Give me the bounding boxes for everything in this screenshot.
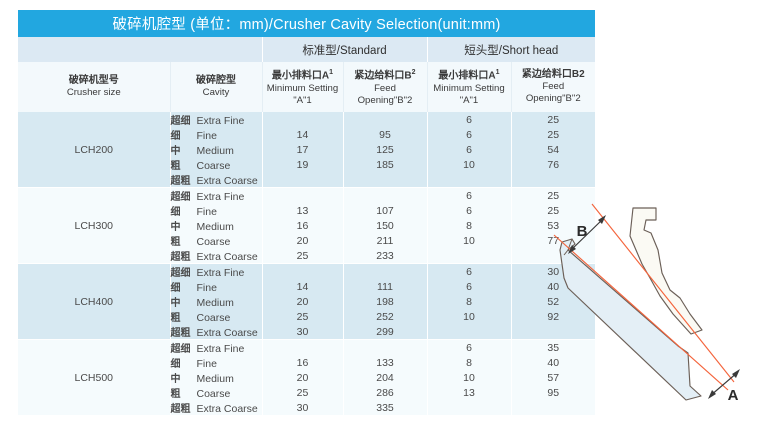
cell-standard-min-setting (262, 188, 343, 204)
cell-shorthead-min-setting: 6 (427, 142, 511, 157)
cell-cavity: 中Medium (170, 142, 262, 157)
cell-standard-feed-opening: 111 (343, 279, 427, 294)
cell-crusher-size (18, 340, 170, 356)
cell-cavity-cn: 超粗 (171, 248, 197, 263)
cell-shorthead-min-setting: 8 (427, 355, 511, 370)
cell-crusher-size (18, 264, 170, 280)
cell-standard-feed-opening: 335 (343, 400, 427, 415)
cell-shorthead-min-setting: 6 (427, 264, 511, 280)
cell-cavity: 中Medium (170, 294, 262, 309)
cell-standard-min-setting: 14 (262, 279, 343, 294)
cell-cavity-cn: 细 (171, 127, 197, 142)
cell-standard-min-setting: 20 (262, 294, 343, 309)
cell-standard-feed-opening: 133 (343, 355, 427, 370)
column-header-std-min-setting-cn: 最小排料口A1 (263, 67, 343, 82)
cell-cavity-cn: 中 (171, 294, 197, 309)
cell-crusher-size (18, 188, 170, 204)
cell-standard-min-setting: 25 (262, 248, 343, 264)
cell-crusher-size (18, 309, 170, 324)
cell-shorthead-min-setting (427, 172, 511, 188)
cell-cavity-en: Fine (197, 130, 217, 142)
table-row: 细Fine13107625 (18, 203, 595, 218)
crusher-cavity-diagram: B A (538, 138, 766, 434)
table-title-row: 破碎机腔型 (单位：mm)/Crusher Cavity Selection(u… (18, 10, 595, 37)
cell-standard-min-setting: 17 (262, 142, 343, 157)
cell-standard-feed-opening: 204 (343, 370, 427, 385)
column-header-sh-feed-opening: 紧边给料口B2 Feed Opening"B"2 (511, 62, 595, 112)
cavity-table-body: 超细Extra Fine625细Fine1495625LCH200中Medium… (18, 112, 595, 415)
page-root: 破碎机腔型 (单位：mm)/Crusher Cavity Selection(u… (0, 0, 766, 442)
column-header-std-feed-opening-en: Feed (344, 83, 427, 95)
cell-standard-min-setting (262, 172, 343, 188)
cell-standard-feed-opening: 299 (343, 324, 427, 340)
cell-shorthead-min-setting: 10 (427, 157, 511, 172)
table-row: 超粗Extra Coarse (18, 172, 595, 188)
cell-cavity-cn: 超细 (171, 188, 197, 203)
cell-cavity-en: Medium (197, 145, 234, 157)
cell-cavity-en: Extra Coarse (197, 403, 258, 415)
cell-crusher-size (18, 355, 170, 370)
cell-crusher-size (18, 233, 170, 248)
cell-cavity-cn: 超粗 (171, 172, 197, 187)
cell-shorthead-min-setting: 6 (427, 340, 511, 356)
cell-cavity-en: Fine (197, 282, 217, 294)
cell-cavity-en: Extra Fine (197, 191, 245, 203)
cell-cavity: 粗Coarse (170, 385, 262, 400)
column-header-crusher-size: 破碎机型号 Crusher size (18, 62, 170, 112)
cell-cavity-en: Coarse (197, 388, 231, 400)
cell-standard-min-setting: 30 (262, 400, 343, 415)
table-row: 粗Coarse252861395 (18, 385, 595, 400)
cell-standard-feed-opening: 211 (343, 233, 427, 248)
cell-cavity-cn: 超粗 (171, 324, 197, 339)
table-row: 超粗Extra Coarse25233 (18, 248, 595, 264)
column-header-sh-feed-opening-cn: 紧边给料口B2 (512, 69, 596, 81)
cell-crusher-size: LCH200 (18, 142, 170, 157)
dimension-b-label: B (577, 223, 588, 240)
cell-cavity: 粗Coarse (170, 233, 262, 248)
column-header-sh-min-setting-en2: "A"1 (428, 95, 511, 107)
cell-cavity-en: Fine (197, 206, 217, 218)
cell-standard-feed-opening (343, 340, 427, 356)
cell-standard-min-setting: 16 (262, 355, 343, 370)
table-row: 超粗Extra Coarse30299 (18, 324, 595, 340)
cell-shorthead-min-setting: 13 (427, 385, 511, 400)
cell-crusher-size (18, 112, 170, 127)
group-header-row: 标准型/Standard 短头型/Short head (18, 37, 595, 62)
column-header-cavity-cn: 破碎腔型 (171, 75, 262, 87)
table-row: LCH300中Medium16150853 (18, 218, 595, 233)
cell-cavity-cn: 粗 (171, 385, 197, 400)
column-header-sh-min-setting-cn: 最小排料口A1 (428, 67, 511, 82)
cell-crusher-size (18, 203, 170, 218)
cell-cavity-cn: 超细 (171, 340, 197, 355)
cell-standard-min-setting: 20 (262, 370, 343, 385)
cell-cavity-cn: 超细 (171, 112, 197, 127)
table-row: 超粗Extra Coarse30335 (18, 400, 595, 415)
cell-standard-min-setting: 13 (262, 203, 343, 218)
cell-shorthead-min-setting: 6 (427, 279, 511, 294)
cell-cavity-en: Coarse (197, 236, 231, 248)
cell-standard-min-setting: 25 (262, 385, 343, 400)
cell-standard-min-setting: 25 (262, 309, 343, 324)
cell-cavity-en: Extra Fine (197, 343, 245, 355)
cell-cavity: 中Medium (170, 218, 262, 233)
cell-shorthead-min-setting: 6 (427, 203, 511, 218)
cell-standard-min-setting (262, 264, 343, 280)
column-header-sh-feed-opening-en2: Opening"B"2 (512, 93, 596, 105)
table-row: 细Fine16133840 (18, 355, 595, 370)
column-header-sh-feed-opening-en: Feed (512, 81, 596, 93)
cell-shorthead-min-setting: 6 (427, 112, 511, 127)
cell-standard-feed-opening: 198 (343, 294, 427, 309)
cell-shorthead-min-setting (427, 400, 511, 415)
cell-standard-feed-opening: 107 (343, 203, 427, 218)
cell-cavity: 粗Coarse (170, 309, 262, 324)
cell-cavity-cn: 中 (171, 142, 197, 157)
cell-cavity-en: Extra Coarse (197, 327, 258, 339)
cell-standard-feed-opening (343, 188, 427, 204)
cell-cavity-cn: 细 (171, 279, 197, 294)
cell-cavity: 细Fine (170, 127, 262, 142)
cell-cavity: 超细Extra Fine (170, 188, 262, 204)
column-header-crusher-size-en: Crusher size (18, 87, 170, 99)
cell-cavity: 超粗Extra Coarse (170, 248, 262, 264)
table-row: LCH200中Medium17125654 (18, 142, 595, 157)
table-row: 超细Extra Fine635 (18, 340, 595, 356)
column-header-row: 破碎机型号 Crusher size 破碎腔型 Cavity 最小排料口A1 M… (18, 62, 595, 112)
cell-cavity: 超细Extra Fine (170, 112, 262, 127)
cell-cavity: 超粗Extra Coarse (170, 324, 262, 340)
column-header-std-min-setting-en: Minimum Setting (263, 83, 343, 95)
cell-cavity-en: Coarse (197, 160, 231, 172)
table-row: 超细Extra Fine625 (18, 112, 595, 127)
dimension-a-label: A (728, 387, 739, 404)
cell-shorthead-min-setting: 8 (427, 294, 511, 309)
cell-standard-min-setting: 30 (262, 324, 343, 340)
cell-standard-feed-opening: 286 (343, 385, 427, 400)
crusher-cavity-table: 破碎机腔型 (单位：mm)/Crusher Cavity Selection(u… (18, 10, 595, 415)
group-header-standard: 标准型/Standard (262, 37, 427, 62)
cell-standard-min-setting (262, 340, 343, 356)
cell-cavity: 细Fine (170, 203, 262, 218)
cell-standard-min-setting (262, 112, 343, 127)
table-row: 细Fine1495625 (18, 127, 595, 142)
cell-cavity: 超细Extra Fine (170, 264, 262, 280)
cell-cavity-cn: 超细 (171, 264, 197, 279)
cell-standard-min-setting: 14 (262, 127, 343, 142)
cell-cavity: 超细Extra Fine (170, 340, 262, 356)
cell-cavity: 超粗Extra Coarse (170, 400, 262, 415)
cell-cavity-cn: 中 (171, 218, 197, 233)
cell-cavity-en: Coarse (197, 312, 231, 324)
cell-cavity-en: Medium (197, 297, 234, 309)
column-header-std-min-setting: 最小排料口A1 Minimum Setting "A"1 (262, 62, 343, 112)
cell-cavity-en: Medium (197, 221, 234, 233)
group-header-short-head: 短头型/Short head (427, 37, 595, 62)
cell-shorthead-min-setting (427, 324, 511, 340)
cell-cavity-cn: 粗 (171, 309, 197, 324)
cell-crusher-size: LCH400 (18, 294, 170, 309)
table-row: 细Fine14111640 (18, 279, 595, 294)
cell-crusher-size (18, 324, 170, 340)
column-header-crusher-size-cn: 破碎机型号 (18, 75, 170, 87)
cell-crusher-size (18, 248, 170, 264)
cell-crusher-size: LCH500 (18, 370, 170, 385)
cell-cavity-cn: 中 (171, 370, 197, 385)
cell-cavity-en: Extra Coarse (197, 175, 258, 187)
cavity-table-container: 破碎机腔型 (单位：mm)/Crusher Cavity Selection(u… (18, 10, 511, 415)
cell-standard-feed-opening (343, 172, 427, 188)
cell-standard-feed-opening: 185 (343, 157, 427, 172)
cell-standard-min-setting: 16 (262, 218, 343, 233)
table-row: 粗Coarse191851076 (18, 157, 595, 172)
cell-cavity-en: Fine (197, 358, 217, 370)
column-header-sh-min-setting: 最小排料口A1 Minimum Setting "A"1 (427, 62, 511, 112)
cell-cavity: 粗Coarse (170, 157, 262, 172)
column-header-cavity: 破碎腔型 Cavity (170, 62, 262, 112)
column-header-std-min-setting-en2: "A"1 (263, 95, 343, 107)
table-row: LCH400中Medium20198852 (18, 294, 595, 309)
column-header-cavity-en: Cavity (171, 87, 262, 99)
cell-cavity-cn: 粗 (171, 157, 197, 172)
cell-standard-min-setting: 19 (262, 157, 343, 172)
group-header-spacer (18, 37, 262, 62)
cell-crusher-size (18, 385, 170, 400)
cell-shorthead-min-setting: 10 (427, 309, 511, 324)
cell-crusher-size (18, 172, 170, 188)
cell-cavity-en: Medium (197, 373, 234, 385)
cell-cavity: 细Fine (170, 279, 262, 294)
cell-crusher-size (18, 400, 170, 415)
cell-shorthead-min-setting: 8 (427, 218, 511, 233)
cell-shorthead-feed-opening: 25 (511, 112, 595, 127)
column-header-std-feed-opening-cn: 紧边给料口B2 (344, 67, 427, 82)
table-row: 粗Coarse202111077 (18, 233, 595, 248)
cell-standard-feed-opening: 95 (343, 127, 427, 142)
cell-standard-feed-opening: 125 (343, 142, 427, 157)
cell-shorthead-min-setting: 10 (427, 233, 511, 248)
cell-shorthead-min-setting: 10 (427, 370, 511, 385)
cell-crusher-size: LCH300 (18, 218, 170, 233)
cell-standard-feed-opening: 233 (343, 248, 427, 264)
column-header-sh-min-setting-en: Minimum Setting (428, 83, 511, 95)
cell-cavity: 细Fine (170, 355, 262, 370)
cell-cavity-cn: 超粗 (171, 400, 197, 415)
cell-cavity-en: Extra Fine (197, 267, 245, 279)
table-row: 超细Extra Fine625 (18, 188, 595, 204)
cell-standard-feed-opening (343, 112, 427, 127)
table-row: 超细Extra Fine630 (18, 264, 595, 280)
column-header-std-feed-opening-en2: Opening"B"2 (344, 95, 427, 107)
cell-cavity-cn: 细 (171, 355, 197, 370)
column-header-std-feed-opening: 紧边给料口B2 Feed Opening"B"2 (343, 62, 427, 112)
cell-cavity: 超粗Extra Coarse (170, 172, 262, 188)
cell-shorthead-min-setting: 6 (427, 188, 511, 204)
cell-crusher-size (18, 279, 170, 294)
table-row: LCH500中Medium202041057 (18, 370, 595, 385)
table-row: 粗Coarse252521092 (18, 309, 595, 324)
cell-standard-feed-opening: 252 (343, 309, 427, 324)
cell-cavity: 中Medium (170, 370, 262, 385)
cell-shorthead-min-setting (427, 248, 511, 264)
cell-standard-min-setting: 20 (262, 233, 343, 248)
cell-shorthead-min-setting: 6 (427, 127, 511, 142)
cell-cavity-cn: 细 (171, 203, 197, 218)
cell-crusher-size (18, 157, 170, 172)
cell-cavity-en: Extra Fine (197, 115, 245, 127)
cell-standard-feed-opening (343, 264, 427, 280)
cell-cavity-en: Extra Coarse (197, 251, 258, 263)
cell-standard-feed-opening: 150 (343, 218, 427, 233)
cell-cavity-cn: 粗 (171, 233, 197, 248)
table-title: 破碎机腔型 (单位：mm)/Crusher Cavity Selection(u… (18, 10, 595, 37)
cell-crusher-size (18, 127, 170, 142)
